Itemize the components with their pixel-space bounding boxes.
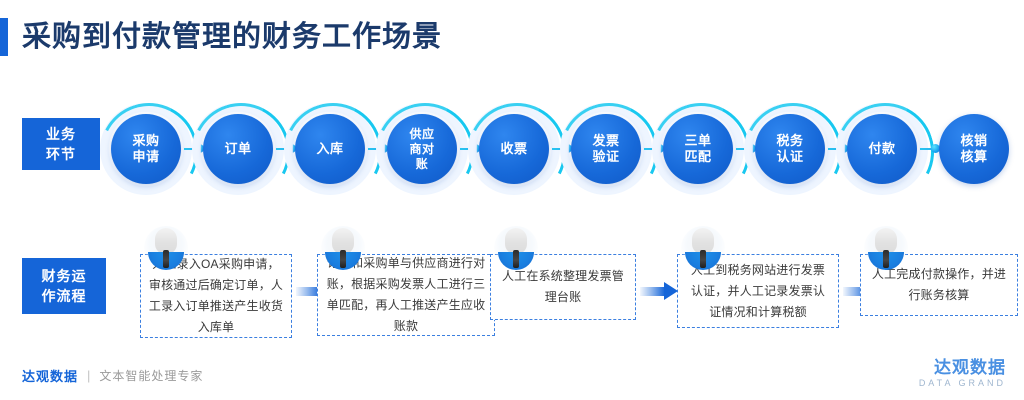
finance-flow-row: 人工录入OA采购申请，审核通过后确定订单，人工录入订单推送产生收货入库单订单和采… [112,222,1024,334]
flow-step: 人工完成付款操作，并进行账务核算 [860,254,1018,316]
stage-circle[interactable]: 发票验证 [560,103,652,195]
stage-disc: 供应商对账 [387,114,457,184]
row-label-process-line2: 环节 [46,144,76,164]
person-icon-head [155,228,177,254]
stage-disc: 采购申请 [111,114,181,184]
stage-circle[interactable]: 供应商对账 [376,103,468,195]
flow-step-box: 人工录入OA采购申请，审核通过后确定订单，人工录入订单推送产生收货入库单 [140,254,292,338]
row-label-process-line1: 业务 [46,124,76,144]
flow-step-text: 人工录入OA采购申请，审核通过后确定订单，人工录入订单推送产生收货入库单 [148,254,284,338]
stage-disc: 订单 [203,114,273,184]
stage-disc: 发票验证 [571,114,641,184]
flow-step-box: 人工在系统整理发票管理台账 [490,254,636,320]
stage-circle[interactable]: 订单 [192,103,284,195]
slide-canvas: 采购到付款管理的财务工作场景 业务 环节 财务运 作流程 采购申请订单入库供应商… [0,0,1024,400]
person-icon-head [332,228,354,254]
footer-logo: 达观数据 DATA GRAND [919,358,1006,390]
title-text: 采购到付款管理的财务工作场景 [22,18,442,56]
page-title: 采购到付款管理的财务工作场景 [0,18,442,56]
stage-disc: 付款 [847,114,917,184]
flow-step-text: 人工在系统整理发票管理台账 [498,266,628,308]
stage-label: 付款 [854,141,910,157]
stage-label: 订单 [210,141,266,157]
footer-left: 达观数据 | 文本智能处理专家 [22,366,203,385]
flow-arrow [640,282,678,300]
person-icon-head [692,228,714,254]
stage-disc: 核销核算 [939,114,1009,184]
flow-step-text: 人工到税务网站进行发票认证，并人工记录发票认证情况和计算税额 [685,260,831,323]
flow-step-text: 订单和采购单与供应商进行对账，根据采购发票人工进行三单匹配，再人工推送产生应收账… [325,253,487,337]
stage-circle[interactable]: 核销核算 [928,103,1020,195]
footer-slogan: 文本智能处理专家 [99,367,203,384]
stage-label: 采购申请 [118,133,174,165]
stage-circle[interactable]: 税务认证 [744,103,836,195]
process-stage-row: 采购申请订单入库供应商对账收票发票验证三单匹配税务认证付款核销核算 [100,103,1024,195]
title-accent-bar [0,18,8,56]
flow-arrow-head [664,282,678,300]
person-icon-head [875,228,897,254]
person-icon-head [505,228,527,254]
flow-step: 人工在系统整理发票管理台账 [490,254,636,320]
footer-brand: 达观数据 [22,366,78,385]
footer-separator: | [87,368,90,383]
stage-circle[interactable]: 采购申请 [100,103,192,195]
stage-disc: 收票 [479,114,549,184]
stage-label: 供应商对账 [394,127,450,172]
flow-step: 人工录入OA采购申请，审核通过后确定订单，人工录入订单推送产生收货入库单 [140,254,292,338]
stage-label: 三单匹配 [670,133,726,165]
stage-disc: 入库 [295,114,365,184]
flow-step-text: 人工完成付款操作，并进行账务核算 [868,264,1010,306]
stage-disc: 税务认证 [755,114,825,184]
flow-step: 订单和采购单与供应商进行对账，根据采购发票人工进行三单匹配，再人工推送产生应收账… [317,254,495,336]
stage-label: 税务认证 [762,133,818,165]
stage-label: 入库 [302,141,358,157]
stage-label: 核销核算 [946,133,1002,165]
stage-circle[interactable]: 入库 [284,103,376,195]
stage-circle[interactable]: 付款 [836,103,928,195]
row-label-finance-line2: 作流程 [42,286,87,306]
footer-logo-en: DATA GRAND [919,377,1006,390]
flow-arrow-shaft [640,287,665,296]
flow-step: 人工到税务网站进行发票认证，并人工记录发票认证情况和计算税额 [677,254,839,328]
stage-label: 收票 [486,141,542,157]
stage-circle[interactable]: 收票 [468,103,560,195]
flow-step-box: 人工到税务网站进行发票认证，并人工记录发票认证情况和计算税额 [677,254,839,328]
flow-step-box: 订单和采购单与供应商进行对账，根据采购发票人工进行三单匹配，再人工推送产生应收账… [317,254,495,336]
stage-circle[interactable]: 三单匹配 [652,103,744,195]
stage-disc: 三单匹配 [663,114,733,184]
flow-step-box: 人工完成付款操作，并进行账务核算 [860,254,1018,316]
row-label-finance: 财务运 作流程 [22,258,106,314]
footer-logo-cn: 达观数据 [919,358,1006,377]
row-label-process: 业务 环节 [22,118,100,170]
stage-label: 发票验证 [578,133,634,165]
row-label-finance-line1: 财务运 [42,266,87,286]
